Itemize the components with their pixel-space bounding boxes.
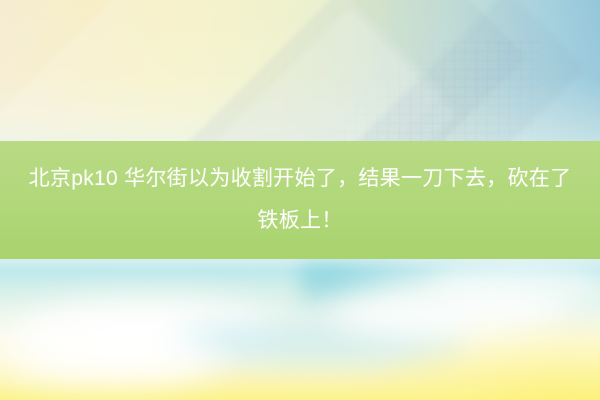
- article-header-banner: 北京pk10 华尔街以为收割开始了，结果一刀下去，砍在了铁板上！: [0, 0, 600, 400]
- lower-sky-gradient: [0, 259, 600, 400]
- banner-title-text: 北京pk10 华尔街以为收割开始了，结果一刀下去，砍在了铁板上！: [18, 158, 582, 242]
- building-grid-texture: [300, 40, 540, 142]
- title-band: 北京pk10 华尔街以为收割开始了，结果一刀下去，砍在了铁板上！: [0, 141, 600, 259]
